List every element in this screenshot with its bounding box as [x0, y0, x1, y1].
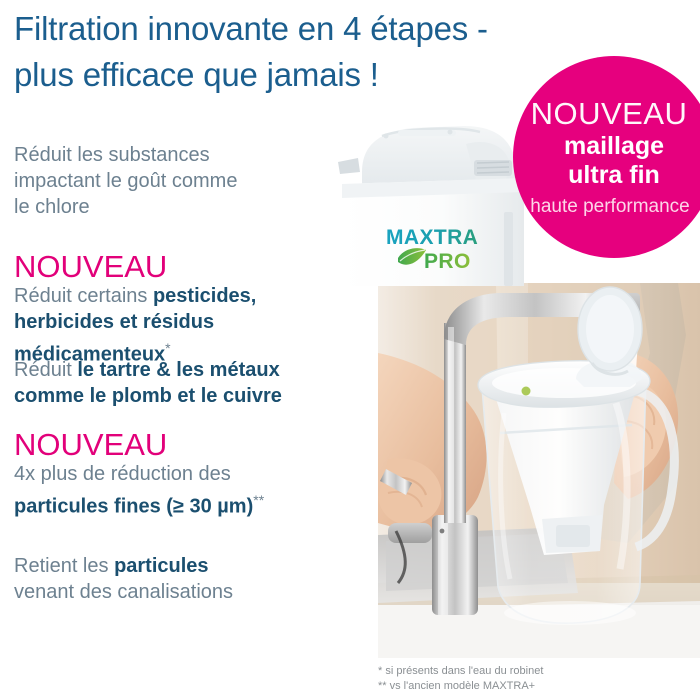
benefit-pesticides-flag: NOUVEAU — [14, 250, 362, 283]
benefit-fine-particles: NOUVEAU 4x plus de réduction des particu… — [14, 428, 362, 520]
benefit-fine-particles-bold: particules fines (≥ 30 µm) — [14, 496, 253, 518]
badge-content: NOUVEAU maillage ultra fin haute perform… — [513, 56, 700, 258]
benefit-pesticides-bold-1: pesticides, — [153, 285, 256, 307]
badge-main-line-2: ultra fin — [513, 161, 700, 190]
badge-subtitle: haute performance — [501, 196, 700, 218]
benefit-limescale-bold-2: comme le plomb et le cuivre — [14, 385, 282, 407]
benefit-fine-particles-text: 4x plus de réduction des particules fine… — [14, 461, 362, 520]
page-title: Filtration innovante en 4 étapes - plus … — [14, 6, 534, 98]
benefit-taste-text: Réduit les substances impactant le goût … — [14, 142, 362, 220]
benefit-pesticides: NOUVEAU Réduit certains pesticides, herb… — [14, 250, 362, 368]
benefit-taste-line-1: Réduit les substances — [14, 142, 362, 168]
poster-root: MAXTRA PRO Filtration innovante en 4 éta… — [0, 0, 700, 700]
footnote-line-1: * si présents dans l'eau du robinet — [378, 664, 543, 679]
benefit-pesticides-line-1: Réduit certains pesticides, — [14, 283, 362, 309]
new-feature-badge: NOUVEAU maillage ultra fin haute perform… — [513, 56, 700, 258]
benefit-fine-particles-line-1: 4x plus de réduction des — [14, 461, 362, 487]
benefit-limescale-line-2: comme le plomb et le cuivre — [14, 383, 362, 409]
badge-main-text: maillage ultra fin — [513, 132, 700, 190]
footnote-marker-double: ** — [253, 492, 264, 508]
benefit-pipe-particles-line-1: Retient les particules — [14, 553, 362, 579]
benefit-pesticides-line-2: herbicides et résidus — [14, 309, 362, 335]
badge-nouveau-label: NOUVEAU — [503, 98, 700, 129]
footnote-line-2: ** vs l'ancien modèle MAXTRA+ — [378, 679, 543, 694]
benefit-pipe-particles-line-2: venant des canalisations — [14, 579, 362, 605]
kitchen-scene-illustration — [378, 283, 700, 658]
benefit-taste: Réduit les substances impactant le goût … — [14, 142, 362, 220]
benefit-limescale-bold-1: le tartre & les métaux — [77, 359, 279, 381]
footnote-marker-single: * — [165, 340, 170, 356]
benefit-pipe-particles-text: Retient les particules venant des canali… — [14, 553, 362, 605]
benefit-pipe-particles-lead: Retient les — [14, 555, 114, 577]
benefit-pesticides-lead: Réduit certains — [14, 285, 153, 307]
maxtra-wordmark: MAXTRA — [386, 226, 478, 249]
benefit-fine-particles-flag: NOUVEAU — [14, 428, 362, 461]
benefit-pipe-particles: Retient les particules venant des canali… — [14, 553, 362, 605]
benefit-taste-line-2: impactant le goût comme — [14, 168, 362, 194]
benefit-limescale-text: Réduit le tartre & les métaux comme le p… — [14, 357, 362, 409]
product-photo — [378, 283, 700, 658]
headline-line-1: Filtration innovante en 4 étapes - — [14, 6, 534, 52]
badge-main-line-1: maillage — [513, 132, 700, 161]
benefit-limescale-line-1: Réduit le tartre & les métaux — [14, 357, 362, 383]
benefit-pipe-particles-bold: particules — [114, 555, 208, 577]
benefit-taste-line-3: le chlore — [14, 194, 362, 220]
benefit-limescale: Réduit le tartre & les métaux comme le p… — [14, 357, 362, 409]
benefit-pesticides-bold-2: herbicides et résidus — [14, 311, 214, 333]
benefit-limescale-lead: Réduit — [14, 359, 77, 381]
pro-wordmark: PRO — [424, 250, 471, 273]
footnotes: * si présents dans l'eau du robinet ** v… — [378, 664, 543, 694]
poster-canvas: MAXTRA PRO Filtration innovante en 4 éta… — [0, 0, 700, 700]
benefit-fine-particles-line-2: particules fines (≥ 30 µm)** — [14, 487, 362, 520]
benefit-pesticides-text: Réduit certains pesticides, herbicides e… — [14, 283, 362, 368]
headline-line-2: plus efficace que jamais ! — [14, 52, 534, 98]
